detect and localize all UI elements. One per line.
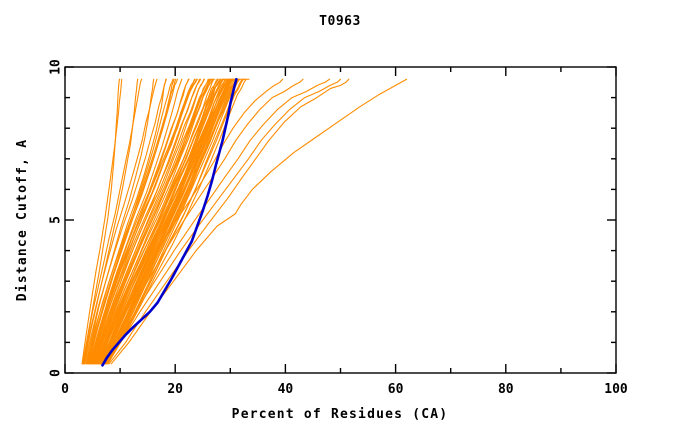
chart-page: T0963 0204060801000510 Percent of Residu…: [0, 0, 680, 440]
x-tick-label: 20: [167, 382, 183, 397]
x-tick-label: 60: [388, 382, 404, 397]
x-tick-label: 80: [498, 382, 514, 397]
y-tick-label: 0: [49, 369, 64, 377]
x-tick-label: 0: [61, 382, 69, 397]
y-axis-label: Distance Cutoff, A: [15, 139, 30, 301]
curves-layer: [82, 79, 407, 365]
y-tick-label: 5: [49, 216, 64, 224]
x-tick-label: 100: [604, 382, 628, 397]
x-axis-label: Percent of Residues (CA): [232, 407, 449, 422]
x-tick-label: 40: [278, 382, 294, 397]
plot-area: 0204060801000510 Percent of Residues (CA…: [0, 0, 680, 440]
y-tick-label: 10: [49, 59, 64, 75]
